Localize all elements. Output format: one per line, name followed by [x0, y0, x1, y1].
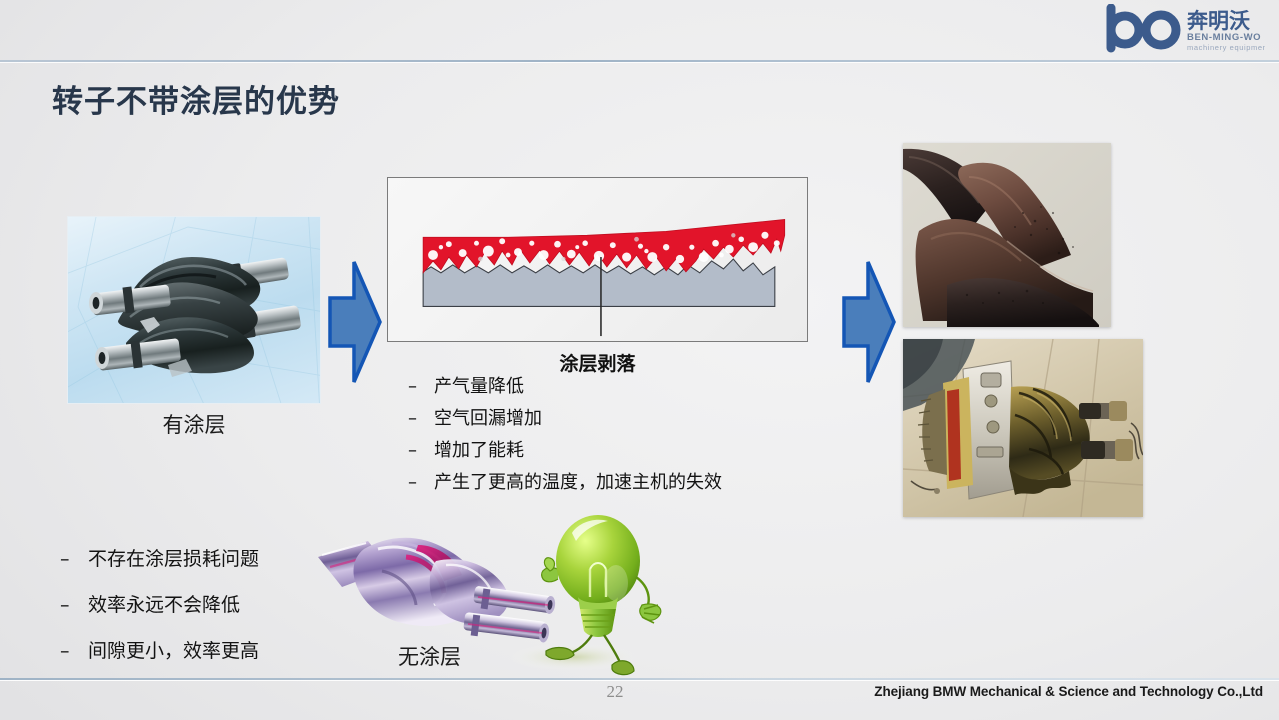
bullet-text: 效率永远不会降低	[88, 594, 240, 616]
bullet-marker: –	[408, 440, 434, 461]
list-item: –间隙更小，效率更高	[60, 636, 259, 663]
bulb-base	[580, 609, 616, 637]
bullet-text: 产气量降低	[434, 376, 524, 397]
logo-pinyin: BEN-MING-WO	[1187, 32, 1261, 43]
bullet-marker: –	[408, 376, 434, 397]
list-item: –空气回漏增加	[408, 404, 722, 430]
page-title: 转子不带涂层的优势	[52, 76, 340, 121]
footer-company-name: Zhejiang BMW Mechanical & Science and Te…	[874, 684, 1263, 699]
logo-tagline: machinery equipment	[1187, 43, 1265, 52]
uncoated-label: 无涂层	[398, 641, 461, 671]
logo-chinese-name: 奔明沃	[1187, 9, 1250, 33]
worn-rotor-photo	[903, 143, 1111, 327]
diagram-bullet-list: –产气量降低 –空气回漏增加 –增加了能耗 –产生了更高的温度，加速主机的失效	[408, 372, 722, 500]
coated-label: 有涂层	[68, 409, 320, 439]
slide-root: 奔明沃 BEN-MING-WO machinery equipment 转子不带…	[0, 0, 1279, 720]
coating-delamination-diagram	[387, 177, 808, 342]
footer-divider	[0, 678, 1279, 680]
list-item: –增加了能耗	[408, 436, 722, 462]
list-item: –产气量降低	[408, 372, 722, 398]
list-item: –不存在涂层损耗问题	[60, 544, 259, 571]
bullet-marker: –	[60, 548, 88, 570]
coated-rotor-photo	[68, 217, 320, 403]
uncoated-rotor-with-mascot	[306, 505, 666, 680]
header-divider	[0, 60, 1279, 62]
failed-airend-photo	[903, 339, 1143, 517]
failed-airend-image	[903, 339, 1143, 517]
uncoated-rotor-scene	[306, 505, 666, 680]
arrow-right	[840, 258, 896, 386]
coating-cross-section	[388, 178, 807, 341]
bullet-marker: –	[408, 472, 434, 493]
bullet-text: 空气回漏增加	[434, 408, 542, 429]
bullet-text: 增加了能耗	[434, 440, 524, 461]
page-number: 22	[595, 682, 635, 702]
advantages-bullet-list: –不存在涂层损耗问题 –效率永远不会降低 –间隙更小，效率更高	[60, 544, 259, 682]
bullet-marker: –	[60, 594, 88, 616]
list-item: –产生了更高的温度，加速主机的失效	[408, 468, 722, 494]
logo-bo-mark	[1111, 8, 1176, 48]
bullet-text: 产生了更高的温度，加速主机的失效	[434, 472, 722, 493]
uncoated-rotor	[318, 538, 556, 643]
bullet-marker: –	[60, 640, 88, 662]
bulb-glass	[556, 515, 640, 607]
worn-rotor-image	[903, 143, 1111, 327]
svg-text:奔明沃: 奔明沃	[1187, 9, 1250, 33]
bullet-text: 不存在涂层损耗问题	[88, 548, 259, 570]
bullet-text: 间隙更小，效率更高	[88, 640, 259, 662]
company-logo: 奔明沃 BEN-MING-WO machinery equipment	[1105, 4, 1265, 56]
arrow-left	[326, 258, 382, 386]
list-item: –效率永远不会降低	[60, 590, 259, 617]
bullet-marker: –	[408, 408, 434, 429]
twin-screw-rotor-illustration	[68, 217, 320, 403]
